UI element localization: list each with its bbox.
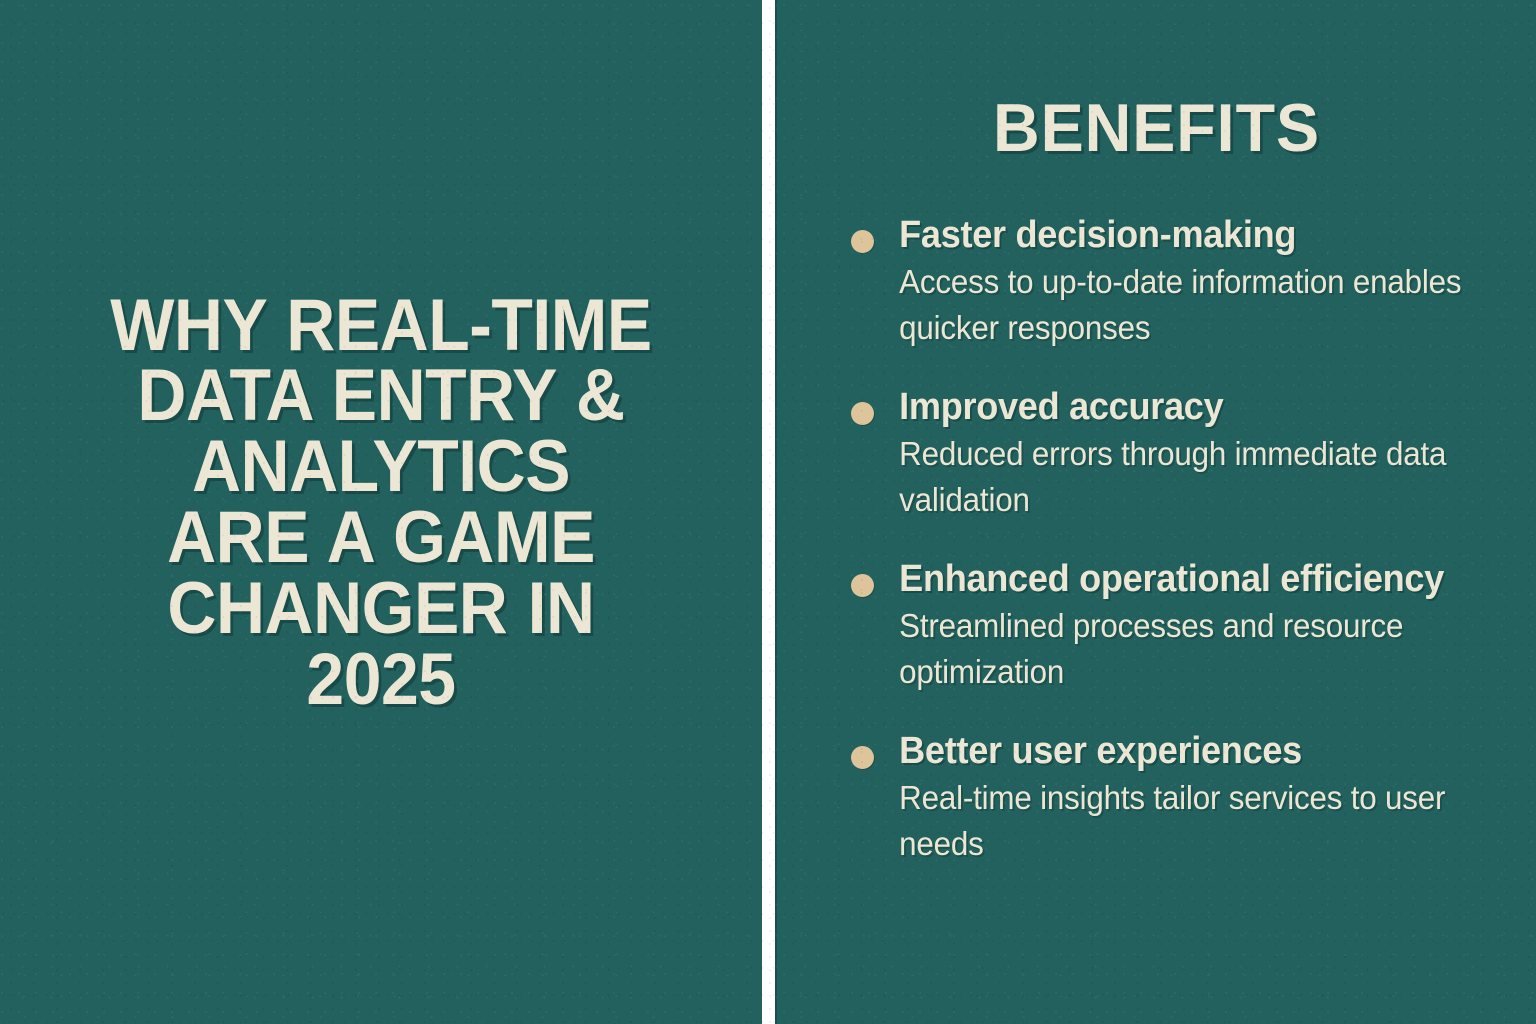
benefit-description: Reduced errors through immediate data va… (845, 431, 1479, 523)
headline-line-4: ARE A GAME (167, 497, 595, 578)
benefit-title: Improved accuracy (845, 387, 1479, 428)
left-title-panel: WHY REAL-TIME DATA ENTRY & ANALYTICS ARE… (0, 0, 762, 1024)
benefit-description: Real-time insights tailor services to us… (845, 775, 1479, 867)
page-title: WHY REAL-TIME DATA ENTRY & ANALYTICS ARE… (106, 291, 657, 716)
list-item: Faster decision-making Access to up-to-d… (845, 215, 1512, 351)
panel-divider (762, 0, 777, 1024)
list-item: Improved accuracy Reduced errors through… (845, 387, 1512, 523)
benefits-heading: BENEFITS (796, 0, 1517, 162)
benefit-description: Access to up-to-date information enables… (845, 259, 1479, 351)
benefits-list: Faster decision-making Access to up-to-d… (777, 215, 1536, 867)
right-benefits-panel: BENEFITS Faster decision-making Access t… (777, 0, 1536, 1024)
list-item: Enhanced operational efficiency Streamli… (845, 559, 1512, 695)
infographic-poster: WHY REAL-TIME DATA ENTRY & ANALYTICS ARE… (0, 0, 1536, 1024)
title-block: WHY REAL-TIME DATA ENTRY & ANALYTICS ARE… (71, 291, 691, 716)
headline-line-3: ANALYTICS (192, 426, 570, 507)
benefit-title: Enhanced operational efficiency (845, 559, 1479, 600)
benefit-title: Better user experiences (845, 731, 1479, 772)
headline-line-6: 2025 (306, 639, 455, 720)
benefit-description: Streamlined processes and resource optim… (845, 603, 1479, 695)
benefit-title: Faster decision-making (845, 215, 1479, 256)
list-item: Better user experiences Real-time insigh… (845, 731, 1512, 867)
headline-line-2: DATA ENTRY & (137, 355, 624, 436)
headline-line-1: WHY REAL-TIME (110, 285, 651, 366)
headline-line-5: CHANGER IN (167, 568, 594, 649)
